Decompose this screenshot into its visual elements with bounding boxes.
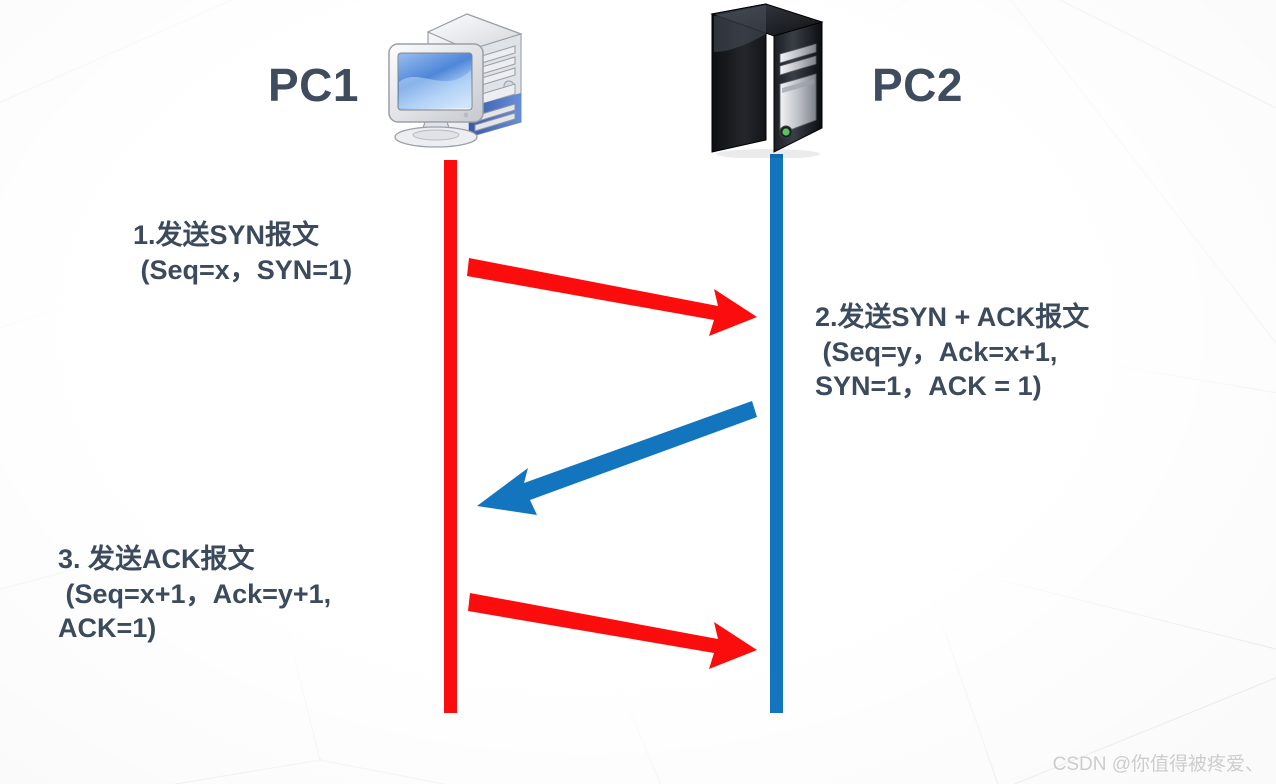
message-arrow-3	[468, 593, 757, 669]
message-label-1: 1.发送SYN报文 (Seq=x，SYN=1)	[133, 218, 352, 287]
message-label-3: 3. 发送ACK报文 (Seq=x+1，Ack=y+1, ACK=1)	[58, 542, 331, 646]
lifeline-pc2	[770, 154, 783, 713]
pc2-icon-container	[700, 0, 860, 158]
lifeline-pc1	[444, 160, 457, 713]
message-arrow-1	[467, 258, 757, 336]
endpoint-label-pc2: PC2	[872, 62, 963, 108]
desktop-computer-icon	[375, 4, 533, 153]
message-label-2: 2.发送SYN + ACK报文 (Seq=y，Ack=x+1, SYN=1，AC…	[815, 300, 1089, 404]
diagram-canvas: PC1 PC2 1.发送SYN报文 (Seq=x，SYN=1) 2.发送SYN …	[0, 0, 1276, 784]
message-arrow-2	[477, 401, 757, 515]
endpoint-label-pc1: PC1	[268, 62, 359, 108]
pc1-icon-container	[375, 4, 533, 153]
csdn-watermark: CSDN @你值得被疼爱、	[1053, 749, 1264, 776]
server-tower-icon	[700, 0, 860, 158]
